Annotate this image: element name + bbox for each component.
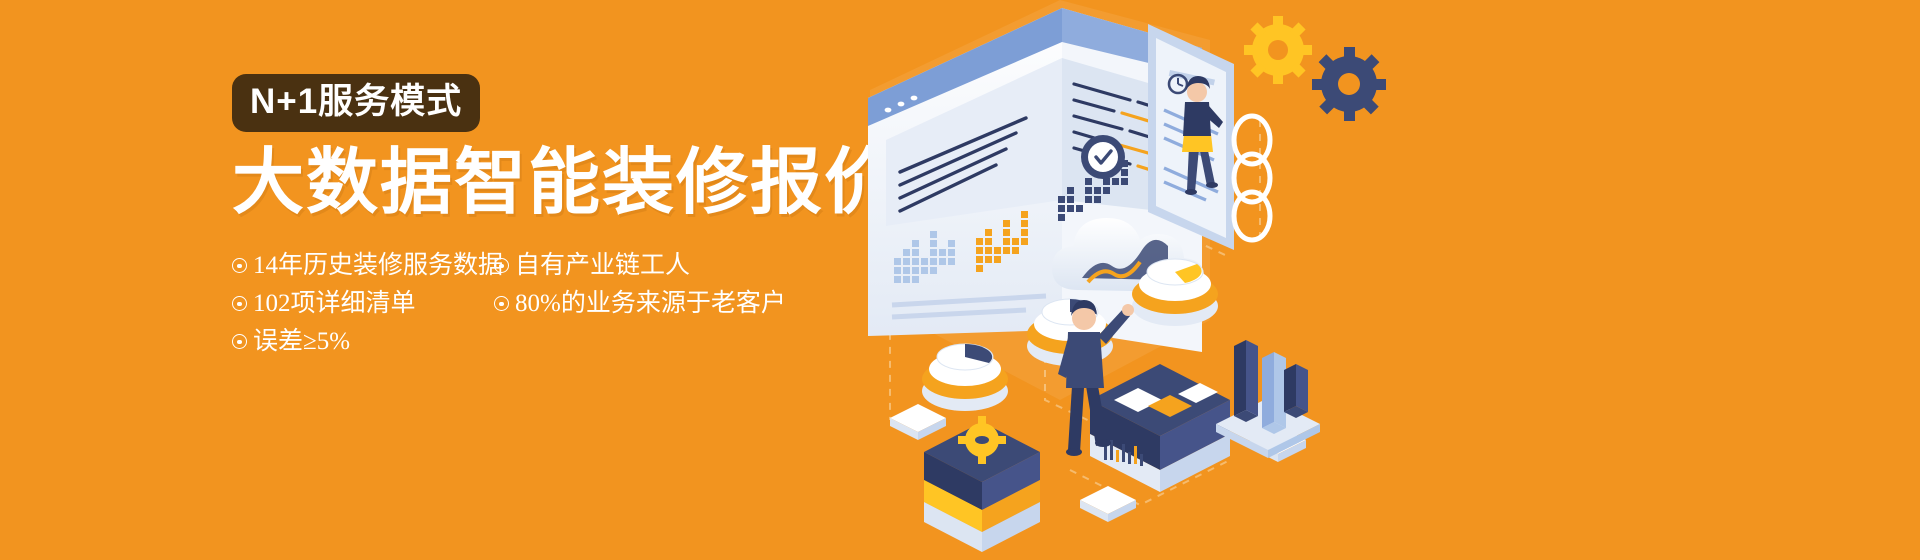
list-item: 102项详细清单 <box>232 291 494 316</box>
service-model-badge: N+1服务模式 <box>232 74 480 132</box>
database-cube <box>924 416 1040 552</box>
server-rack <box>1090 364 1230 492</box>
promo-banner: N+1服务模式 大数据智能装修报价 14年历史装修服务数据 自有产业链工人 10… <box>0 0 1920 560</box>
circled-dot-icon <box>232 296 247 311</box>
list-item-label: 误差≥5% <box>253 329 350 354</box>
ring-stack <box>1234 116 1270 240</box>
list-item-label: 14年历史装修服务数据 <box>253 253 503 278</box>
list-item-label: 自有产业链工人 <box>515 253 690 278</box>
list-item-label: 80%的业务来源于老客户 <box>515 291 786 316</box>
isometric-big-data-illustration <box>830 0 1390 560</box>
gear-yellow <box>1244 16 1312 84</box>
list-item: 14年历史装修服务数据 <box>232 253 494 278</box>
floating-tile <box>1080 486 1136 522</box>
circled-dot-icon <box>232 334 247 349</box>
list-item-label: 102项详细清单 <box>253 291 416 316</box>
circled-dot-icon <box>232 258 247 273</box>
circled-dot-icon <box>494 296 509 311</box>
check-badge <box>1081 135 1125 179</box>
floating-tile <box>890 404 946 440</box>
gear-dark <box>1312 47 1386 121</box>
circled-dot-icon <box>494 258 509 273</box>
list-item: 误差≥5% <box>232 329 494 354</box>
